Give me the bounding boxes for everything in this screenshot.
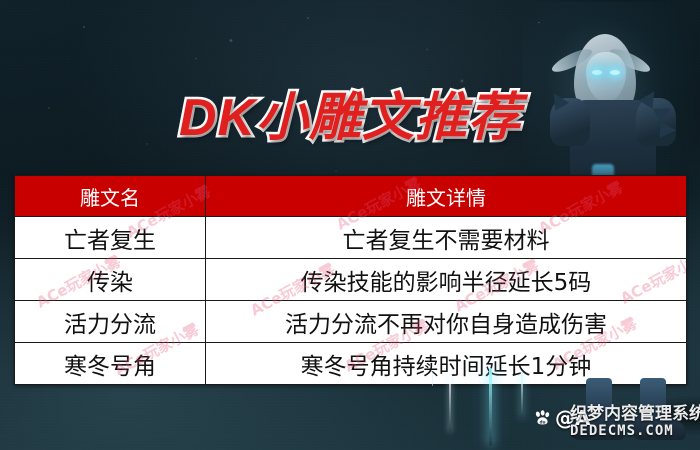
table-row: 寒冬号角 寒冬号角持续时间延长1分钟 [15,343,687,385]
character-lower-body-art [500,378,700,450]
cell-glyph-name: 亡者复生 [15,217,206,259]
character-boot-right [632,418,686,440]
page-title: DK小雕文推荐 [0,92,700,144]
character-ear-left [549,45,594,76]
table-header-row: 雕文名 雕文详情 [15,176,687,217]
cell-glyph-name: 寒冬号角 [15,343,206,385]
column-header-glyph-detail: 雕文详情 [206,176,687,217]
svg-text:du: du [539,419,545,425]
column-header-glyph-name: 雕文名 [15,176,206,217]
screenshot-stage: DK小雕文推荐 雕文名 雕文详情 亡者复生 亡者复生不需要材料 传染 传染技能的… [0,0,700,450]
ground-shadow [650,396,700,436]
attribution-block: du @A [533,408,590,428]
table-row: 亡者复生 亡者复生不需要材料 [15,217,687,259]
attribution-handle: @A [555,408,590,428]
table-row: 活力分流 活力分流不再对你自身造成伤害 [15,301,687,343]
cell-glyph-detail: 寒冬号角持续时间延长1分钟 [206,343,687,385]
character-ear-right [607,45,652,76]
dedecms-watermark-en: DEDECMS.COM [570,424,700,439]
dedecms-watermark-cn: 织梦内容管理系统 [570,406,700,424]
cell-glyph-name: 传染 [15,259,206,301]
baidu-paw-icon: du [533,409,552,428]
character-boot-left [570,418,624,440]
character-eye-left [592,70,602,75]
character-eye-right [610,70,620,75]
dedecms-watermark: 织梦内容管理系统 DEDECMS.COM [570,406,700,439]
cell-glyph-detail: 活力分流不再对你自身造成伤害 [206,301,687,343]
cell-glyph-detail: 亡者复生不需要材料 [206,217,687,259]
glyph-recommendation-table: 雕文名 雕文详情 亡者复生 亡者复生不需要材料 传染 传染技能的影响半径延长5码… [14,175,687,385]
table-row: 传染 传染技能的影响半径延长5码 [15,259,687,301]
cell-glyph-name: 活力分流 [15,301,206,343]
cell-glyph-detail: 传染技能的影响半径延长5码 [206,259,687,301]
